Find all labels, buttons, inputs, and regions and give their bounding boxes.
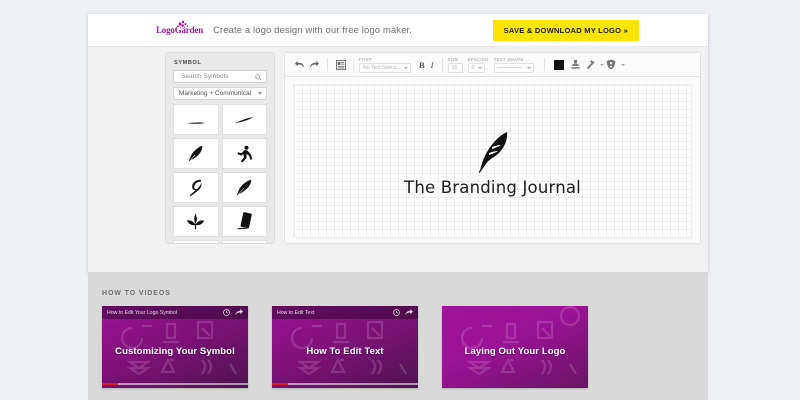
app-body: SYMBOL Marketing + Communical <box>88 47 708 272</box>
logo-artwork[interactable]: The Branding Journal <box>294 129 691 197</box>
chevron-down-icon <box>478 67 482 69</box>
video-bar-title: How to Edit Text <box>277 310 314 316</box>
text-shape-slider[interactable] <box>498 67 522 68</box>
editor-panel: FONT No Text Select... B I SIZE 16 <box>284 52 701 244</box>
sparkle-flower-icon <box>176 20 190 29</box>
symbol-running-person[interactable] <box>222 138 268 169</box>
symbol-curled-quill[interactable] <box>173 172 219 203</box>
video-list: How to Edit Your Logo Symbol Customizing… <box>102 306 694 388</box>
toolbar-divider <box>327 58 328 71</box>
editor-toolbar: FONT No Text Select... B I SIZE 16 <box>285 53 700 77</box>
clock-icon[interactable] <box>223 309 230 316</box>
symbol-panel-title: SYMBOL <box>174 60 267 66</box>
quill-feather-icon[interactable] <box>473 129 513 175</box>
stamp-icon[interactable] <box>568 57 583 73</box>
toolbar-divider-2 <box>353 58 354 71</box>
color-swatch-button[interactable] <box>554 60 564 70</box>
redo-arrow-icon[interactable] <box>307 57 322 73</box>
symbol-category-select[interactable]: Marketing + Communical <box>173 87 267 100</box>
video-title: Laying Out Your Logo <box>442 346 588 357</box>
size-input[interactable]: 16 <box>448 63 463 73</box>
clock-icon[interactable] <box>393 309 400 316</box>
chevron-down-icon[interactable] <box>621 64 625 66</box>
logo-maker-window: LogoGarden Create a logo design with our… <box>88 14 708 272</box>
how-to-videos-section: HOW TO VIDEOS How to Edit Yo <box>88 272 708 400</box>
spacing-value: 0 <box>472 65 475 71</box>
symbol-arc-swoosh[interactable] <box>173 240 219 244</box>
canvas-wrapper: The Branding Journal <box>285 77 700 246</box>
font-label: FONT <box>359 57 411 62</box>
spacing-select[interactable]: 0 <box>468 63 485 73</box>
magic-wand-icon[interactable] <box>583 57 598 73</box>
tagline: Create a logo design with our free logo … <box>213 25 412 36</box>
text-shape-label: TEXT SHAPE <box>494 57 534 62</box>
symbol-leaf-sprout[interactable] <box>173 206 219 237</box>
share-arrow-icon[interactable] <box>405 309 413 316</box>
logo-text[interactable]: The Branding Journal <box>404 178 581 197</box>
symbol-mobile-phone[interactable] <box>222 206 268 237</box>
video-title-bar: How to Edit Your Logo Symbol <box>102 306 248 319</box>
video-title: Customizing Your Symbol <box>102 346 248 357</box>
video-card-how-to-edit-text[interactable]: How to Edit Text How To Edit Text <box>272 306 418 388</box>
app-header: LogoGarden Create a logo design with our… <box>88 14 708 47</box>
toolbar-divider-3 <box>442 58 443 71</box>
search-icon <box>255 74 262 81</box>
font-select[interactable]: No Text Select... <box>359 63 411 73</box>
symbol-feather-pen[interactable] <box>173 138 219 169</box>
size-field: SIZE 16 <box>448 57 463 73</box>
symbol-quill-feather-1[interactable] <box>173 104 219 135</box>
video-title: How To Edit Text <box>272 346 418 357</box>
font-value: No Text Select... <box>363 65 401 71</box>
share-arrow-icon[interactable] <box>235 309 243 316</box>
spacing-field: SPACING 0 <box>468 57 489 73</box>
video-progress-bar[interactable] <box>102 383 248 385</box>
save-download-button[interactable]: SAVE & DOWNLOAD MY LOGO » <box>493 20 639 41</box>
text-shape-select[interactable] <box>494 63 534 73</box>
chevron-down-icon <box>404 67 408 69</box>
page-root: LogoGarden Create a logo design with our… <box>0 0 800 400</box>
toolbar-divider-4 <box>544 58 545 71</box>
symbol-panel: SYMBOL Marketing + Communical <box>165 52 275 244</box>
chevron-down-icon <box>258 92 262 95</box>
video-card-customizing-your-symbol[interactable]: How to Edit Your Logo Symbol Customizing… <box>102 306 248 388</box>
symbol-brush-stroke[interactable] <box>222 240 268 244</box>
video-progress-bar[interactable] <box>272 383 418 385</box>
video-bar-icons <box>223 309 243 316</box>
shield-icon[interactable] <box>604 57 619 73</box>
symbol-category-value: Marketing + Communical <box>179 90 251 97</box>
search-symbols-row[interactable] <box>173 70 267 83</box>
symbol-feather-quill[interactable] <box>222 172 268 203</box>
spacing-label: SPACING <box>468 57 489 62</box>
symbol-grid <box>173 104 267 244</box>
logogarden-logo[interactable]: LogoGarden <box>156 25 203 35</box>
undo-arrow-icon[interactable] <box>292 57 307 73</box>
video-title-bar: How to Edit Text <box>272 306 418 319</box>
font-field: FONT No Text Select... <box>359 57 411 73</box>
video-card-laying-out-your-logo[interactable]: Laying Out Your Logo <box>442 306 588 388</box>
size-value: 16 <box>452 65 458 71</box>
chevron-down-icon <box>527 67 531 69</box>
logo-canvas[interactable]: The Branding Journal <box>293 84 692 238</box>
bold-button[interactable]: B <box>419 60 425 70</box>
video-bar-title: How to Edit Your Logo Symbol <box>107 310 177 316</box>
symbol-quill-feather-2[interactable] <box>222 104 268 135</box>
size-label: SIZE <box>448 57 463 62</box>
text-shape-field: TEXT SHAPE <box>494 57 534 73</box>
text-block-icon[interactable] <box>333 57 348 73</box>
video-bar-icons <box>393 309 413 316</box>
italic-button[interactable]: I <box>431 60 434 70</box>
how-to-videos-title: HOW TO VIDEOS <box>102 290 694 297</box>
search-symbols-input[interactable] <box>179 72 261 81</box>
